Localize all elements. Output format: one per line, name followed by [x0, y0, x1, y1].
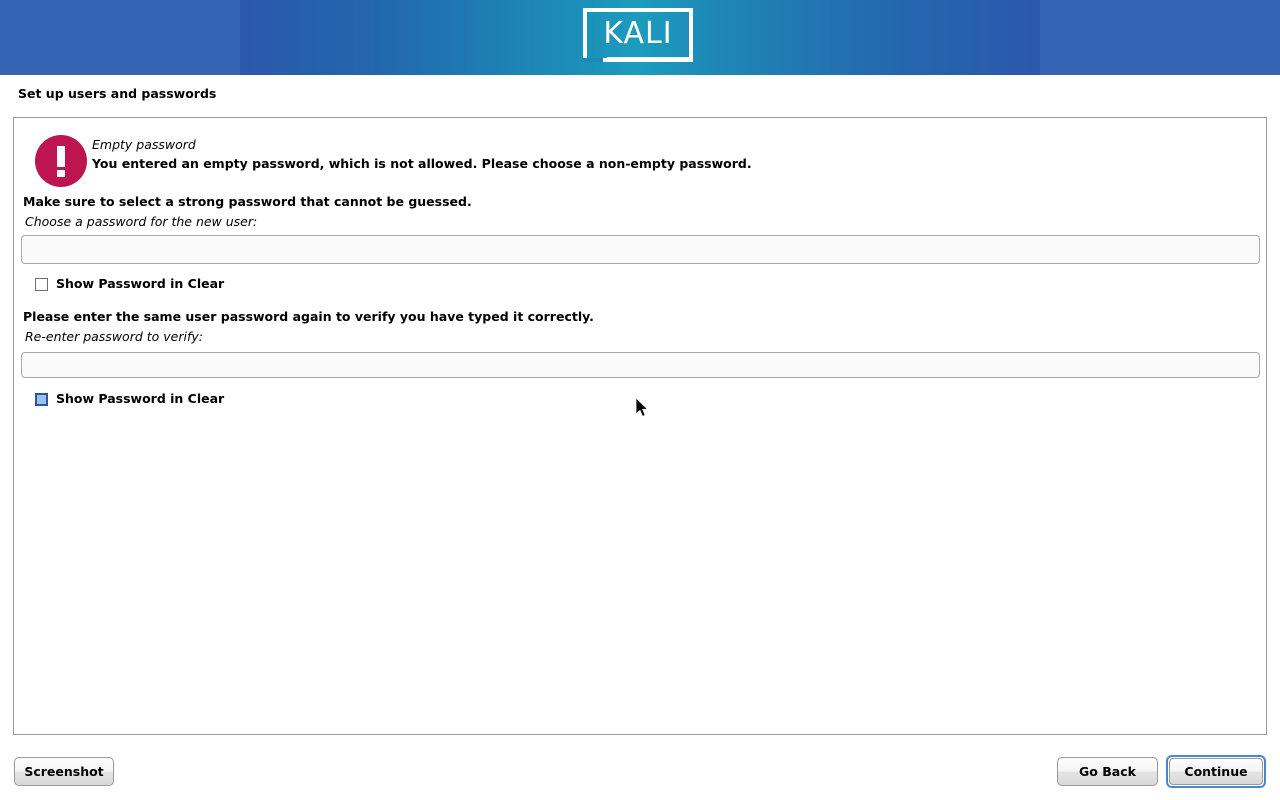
exclamation-dot — [57, 170, 65, 177]
verify-field-label: Re-enter password to verify: — [25, 329, 203, 344]
password-field-label: Choose a password for the new user: — [25, 214, 257, 229]
verify-heading: Please enter the same user password agai… — [23, 309, 594, 324]
content-panel: Empty password You entered an empty pass… — [13, 117, 1267, 735]
verify-password-input[interactable] — [21, 352, 1260, 378]
error-message: You entered an empty password, which is … — [92, 156, 752, 171]
screenshot-button[interactable]: Screenshot — [14, 757, 114, 786]
password-input[interactable] — [21, 235, 1260, 264]
show-password-checkbox-2[interactable] — [35, 393, 48, 406]
screenshot-button-label: Screenshot — [15, 758, 113, 785]
continue-button-label: Continue — [1170, 764, 1262, 779]
page-title: Set up users and passwords — [18, 86, 216, 101]
error-title: Empty password — [92, 137, 196, 152]
continue-button[interactable]: Continue — [1166, 755, 1266, 788]
show-password-label-2: Show Password in Clear — [56, 391, 224, 406]
go-back-button[interactable]: Go Back — [1057, 757, 1158, 786]
error-exclamation-icon — [35, 135, 87, 187]
exclamation-bar — [57, 146, 65, 167]
show-password-checkbox-1[interactable] — [35, 278, 48, 291]
password-heading: Make sure to select a strong password th… — [23, 194, 472, 209]
kali-logo-text: KALI — [583, 8, 693, 62]
installer-banner: KALI — [0, 0, 1280, 75]
go-back-button-label: Go Back — [1058, 758, 1157, 785]
continue-button-inner: Continue — [1169, 758, 1263, 785]
kali-logo: KALI — [583, 8, 697, 66]
show-password-label-1: Show Password in Clear — [56, 276, 224, 291]
error-banner: Empty password You entered an empty pass… — [24, 128, 1254, 188]
